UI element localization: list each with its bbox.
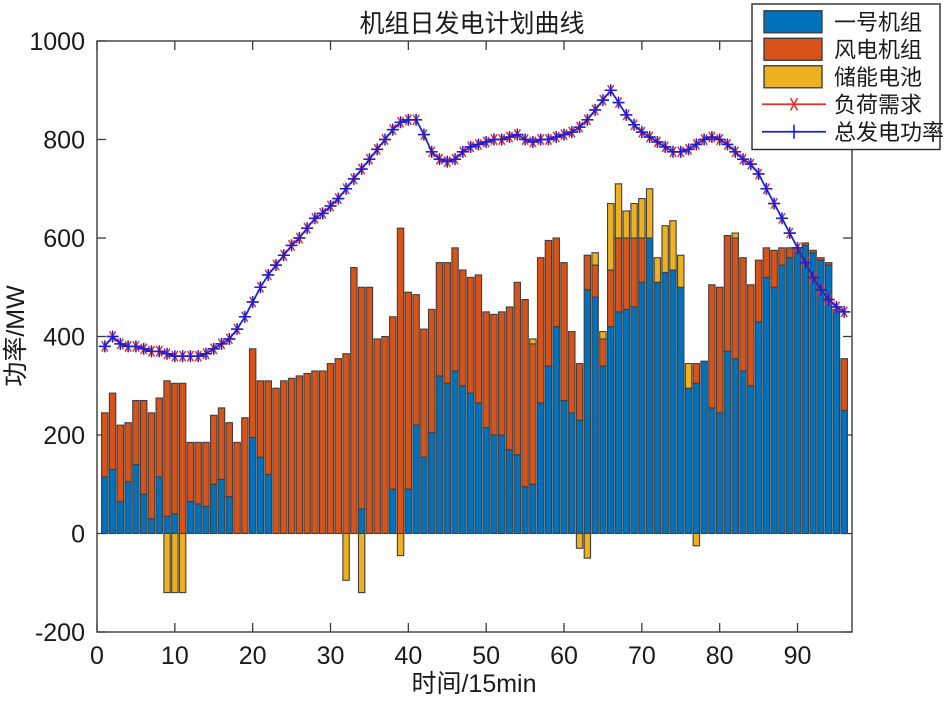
bar-segment [141,401,147,495]
y-tick-label: -200 [35,619,85,647]
bar-segment [397,534,403,556]
x-tick-label: 50 [472,642,500,670]
y-tick-label: 600 [43,225,85,253]
bar-segment [141,494,147,533]
bar-segment [530,344,536,484]
bar-segment [802,243,808,245]
bar-segment [467,393,473,533]
bar-segment [553,327,559,534]
bar-segment [506,307,512,450]
bar-segment [545,240,551,366]
bar-segment [794,253,800,534]
bar-segment [825,263,831,265]
bar-segment [833,309,839,533]
bar-segment [670,270,676,533]
bar-segment [102,413,108,477]
bar-segment [257,457,263,533]
bar-segment [421,329,427,457]
bar-segment [584,534,590,559]
bar-segment [226,497,232,534]
bar-segment [732,238,738,359]
y-tick-label: 400 [43,324,85,352]
bar-segment [623,238,629,309]
bar-segment [195,504,201,534]
bar-segment [537,258,543,403]
bar-segment [662,226,668,273]
bar-segment [522,487,528,534]
bar-segment [179,383,185,533]
bar-segment [678,287,684,533]
bar-segment [631,307,637,534]
bar-segment [358,534,364,593]
y-tick-label: 200 [43,422,85,450]
bar-segment [716,287,722,413]
bar-segment [569,332,575,413]
bar-segment [156,477,162,534]
bar-segment [242,418,248,534]
x-tick-label: 40 [394,642,422,670]
bar-segment [576,420,582,533]
bar-segment [639,238,645,282]
bar-segment [320,371,326,534]
bar-segment [763,277,769,533]
bar-segment [841,410,847,533]
bar-segment [670,221,676,270]
bar-segment [600,366,606,533]
bar-segment [405,292,411,489]
bar-segment [499,312,505,435]
bar-segment [109,469,115,533]
bar-segment [218,408,224,479]
bar-segment [732,359,738,534]
bar-segment [506,450,512,534]
bar-segment [615,238,621,312]
bar-segment [654,258,660,283]
bar-segment [608,270,614,327]
bar-segment [203,442,209,506]
bar-segment [763,248,769,278]
bar-segment [748,386,754,534]
bar-segment [304,373,310,533]
bar-segment [281,381,287,534]
bar-segment [249,437,255,533]
bar-segment [265,381,271,475]
bar-segment [701,361,707,533]
x-tick-label: 30 [317,642,345,670]
bar-segment [740,258,746,371]
bar-segment [732,233,738,238]
bar-segment [343,354,349,534]
bar-segment [148,413,154,519]
bar-segment [530,339,536,344]
bar-segment [366,287,372,533]
bar-segment [125,482,131,534]
bar-segment [584,255,590,289]
legend-swatch [764,11,822,33]
legend-swatch [764,66,822,88]
bar-segment [460,386,466,534]
bar-segment [623,309,629,533]
bar-segment [592,253,598,265]
bar-segment [685,364,691,389]
y-axis-label: 功率/MW [2,285,30,387]
bar-segment [211,484,217,533]
bar-segment [685,388,691,533]
bar-segment [631,204,637,238]
x-tick-label: 80 [706,642,734,670]
bar-segment [600,332,606,339]
bar-segment [358,287,364,509]
legend-swatch [764,38,822,60]
y-tick-label: 0 [71,521,85,549]
bar-segment [187,442,193,501]
bar-segment [444,263,450,384]
bar-segment [818,260,824,533]
legend[interactable]: 一号机组风电机组储能电池负荷需求总发电功率 [752,4,944,150]
bar-segment [390,317,396,489]
bar-segment [491,435,497,534]
bar-segment [491,314,497,435]
bar-segment [779,248,785,265]
bar-segment [841,359,847,411]
bar-segment [397,228,403,533]
legend-label: 总发电功率 [834,120,944,145]
bar-segment [172,514,178,534]
bar-segment [608,327,614,534]
chart-title: 机组日发电计划曲线 [359,10,584,38]
bar-segment [802,245,808,533]
bar-segment [646,238,652,534]
bar-segment [537,403,543,534]
bar-segment [662,272,668,533]
bar-segment [172,383,178,514]
bar-segment [109,393,115,469]
bar-segment [444,383,450,533]
bar-segment [195,442,201,504]
bar-segment [335,359,341,534]
bar-segment [343,534,349,581]
bar-segment [265,474,271,533]
legend-label: 一号机组 [834,10,922,35]
legend-item-2[interactable]: 风电机组 [764,37,922,62]
bar-segment [810,250,816,252]
bar-segment [561,401,567,534]
bar-segment [179,534,185,593]
figure-container: 机组日发电计划曲线 -20002004006008001000 01020304… [0,0,944,704]
bar-segment [779,265,785,533]
bar-segment [748,285,754,386]
legend-label: 储能电池 [834,65,922,90]
bar-segment [514,282,520,454]
bar-segment [234,442,240,533]
bar-segment [351,268,357,534]
bar-segment [608,204,614,270]
x-axis-label: 时间/15min [411,670,536,698]
legend-label: 风电机组 [834,37,922,62]
bar-segment [771,250,777,287]
bar-segment [716,413,722,534]
bar-segment [117,501,123,533]
bar-segment [646,189,652,238]
bar-segment [499,435,505,534]
bar-segment [584,290,590,534]
bar-segment [709,408,715,534]
bar-segment [413,295,419,426]
bar-segment [818,258,824,260]
bar-segment [117,425,123,501]
bar-segment [133,401,139,465]
bar-segment [475,275,481,403]
bar-segment [576,534,582,549]
bar-segment [810,253,816,534]
legend-label: 负荷需求 [834,92,922,117]
bar-segment [257,381,263,457]
bar-segment [429,433,435,534]
bar-segment [382,337,388,534]
chart-canvas: 机组日发电计划曲线 -20002004006008001000 01020304… [0,0,944,704]
bar-segment [600,339,606,366]
bar-segment [623,211,629,238]
x-tick-label: 10 [161,642,189,670]
bar-segment [296,376,302,534]
bar-segment [787,258,793,534]
bar-segment [467,277,473,393]
bar-segment [358,509,364,534]
bar-segment [211,415,217,484]
bar-segment [374,339,380,534]
bar-segment [218,479,224,533]
bar-segment [327,364,333,534]
bar-segment [483,428,489,534]
x-tick-label: 90 [784,642,812,670]
bar-segment [553,238,559,327]
bar-segment [405,489,411,533]
legend-item-1[interactable]: 一号机组 [764,10,922,35]
bar-segment [639,282,645,533]
bar-segment [483,312,489,428]
bar-segment [436,263,442,376]
y-tick-label: 1000 [29,28,85,56]
bar-segment [740,371,746,534]
bar-segment [429,309,435,432]
bar-segment [187,501,193,533]
bar-segment [724,236,730,352]
bar-segment [475,403,481,534]
bar-segment [615,184,621,238]
bar-segment [561,263,567,401]
bar-segment [693,364,699,384]
bar-segment [249,349,255,438]
bar-segment [312,371,318,534]
bar-segment [569,413,575,534]
bar-segment [709,285,715,408]
bar-segment [631,238,637,307]
x-tick-label: 70 [628,642,656,670]
bar-segment [639,199,645,238]
x-tick-label: 0 [90,642,104,670]
bar-segment [413,425,419,533]
bar-segment [592,265,598,297]
bar-segment [390,489,396,533]
bar-segment [156,398,162,477]
bar-segment [545,366,551,533]
bar-segment [460,270,466,386]
bar-segment [164,534,170,593]
bar-segment [164,516,170,533]
y-tick-label: 800 [43,127,85,155]
bar-segment [755,322,761,534]
bar-segment [592,297,598,533]
bar-segment [164,381,170,516]
legend-item-3[interactable]: 储能电池 [764,65,922,90]
x-tick-label: 60 [550,642,578,670]
bar-segment [148,519,154,534]
bar-segment [452,371,458,534]
bar-segment [203,506,209,533]
bar-segment [172,534,178,593]
bar-segment [452,248,458,371]
bar-segment [273,388,279,533]
bar-segment [755,260,761,322]
bar-segment [724,351,730,533]
bar-segment [771,287,777,533]
bar-segment [787,248,793,258]
bar-segment [226,423,232,497]
bar-segment [102,477,108,534]
bar-segment [133,465,139,534]
bar-segment [576,364,582,421]
bar-segment [421,457,427,533]
bar-segment [654,282,660,533]
bar-segment [678,255,684,287]
bar-segment [514,455,520,534]
bar-segment [693,534,699,546]
bar-segment [125,423,131,482]
bar-segment [522,300,528,487]
bar-segment [615,312,621,534]
x-tick-label: 20 [239,642,267,670]
bar-segment [288,378,294,533]
bar-segment [436,376,442,534]
bar-segment [693,383,699,533]
bar-segment [530,484,536,533]
